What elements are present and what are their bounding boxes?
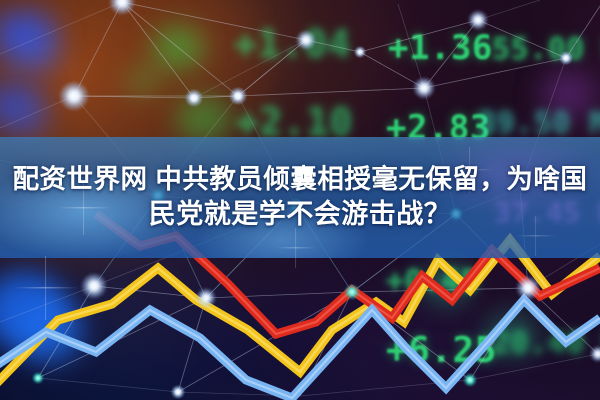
- headline-line-1: 配资世界网 中共教员倾囊相授毫无保留，为啥国: [13, 164, 588, 195]
- headline-block: 配资世界网 中共教员倾囊相授毫无保留，为啥国 民党就是学不会游击战？: [0, 137, 600, 258]
- headline-line-2: 民党就是学不会游击战？: [149, 199, 452, 231]
- cover-image: +1.04 +1.36 55.00 M +2.10 +2.83 39.50 M …: [0, 0, 600, 400]
